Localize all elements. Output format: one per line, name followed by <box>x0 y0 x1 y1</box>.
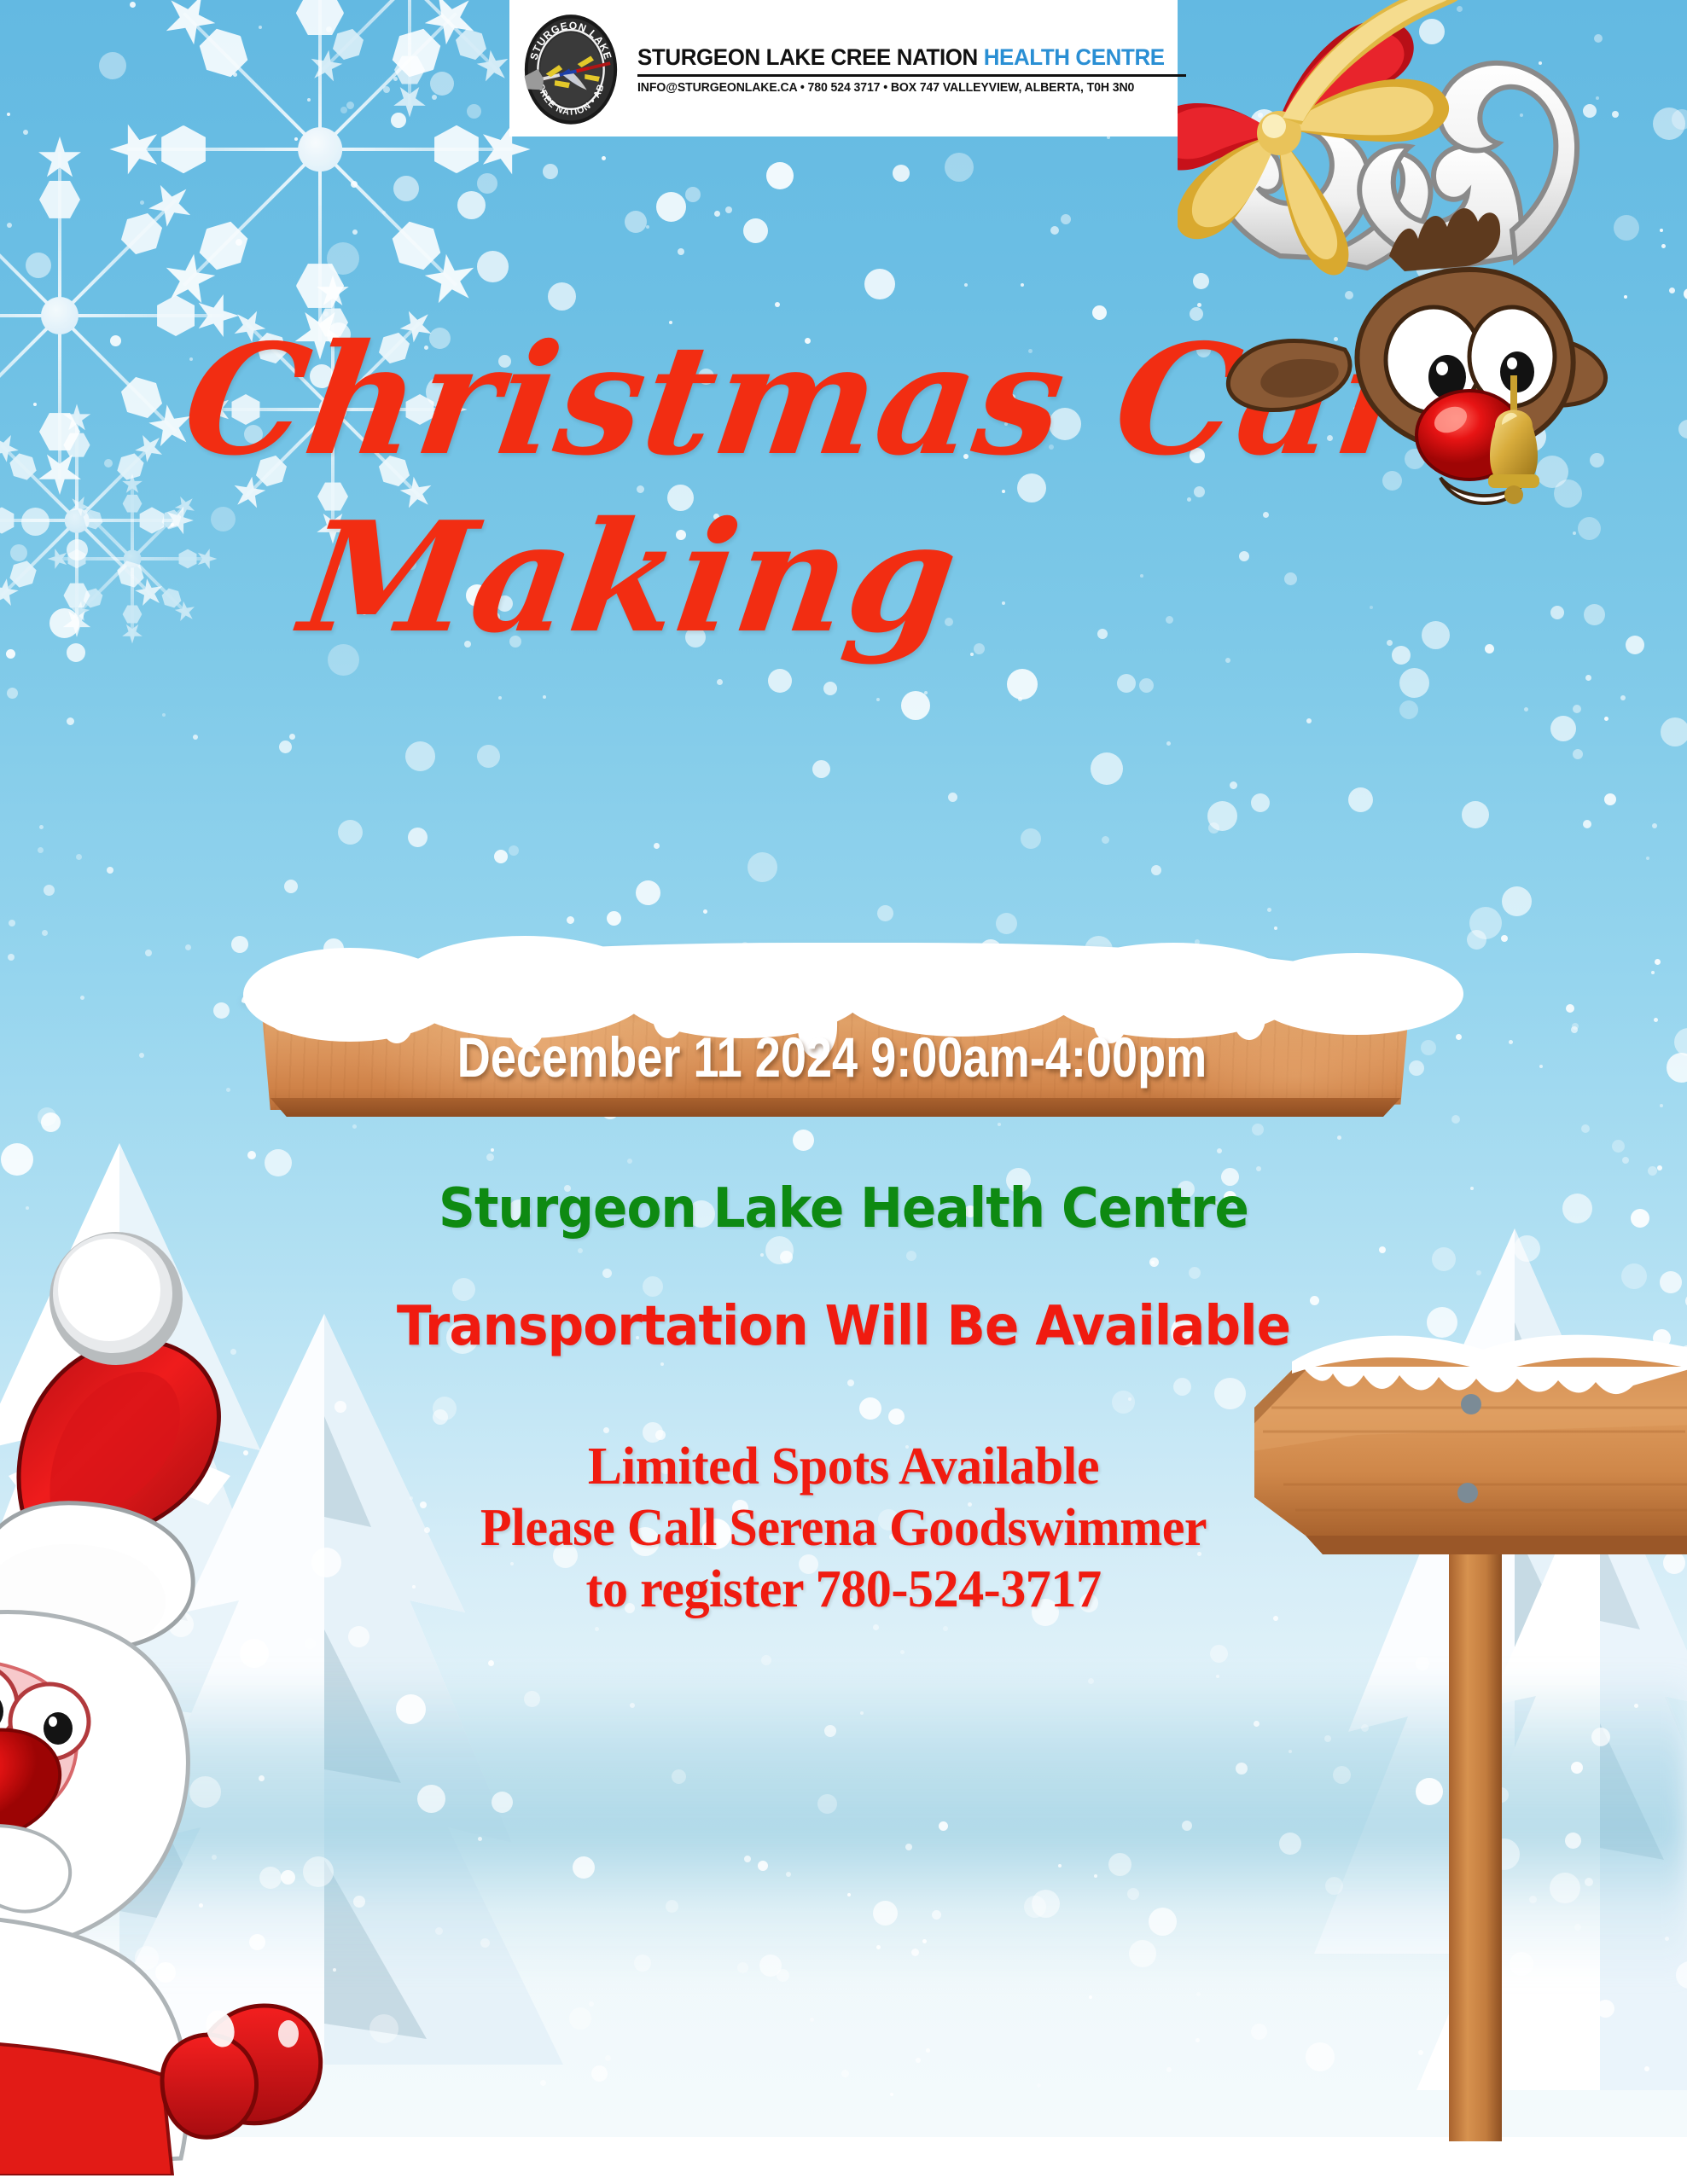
logo-wrap: STURGEON LAKE CREE NATION • AB <box>516 4 625 132</box>
icicle <box>883 999 905 1025</box>
sign-bottom-edge <box>252 1098 1412 1117</box>
poster-canvas: STURGEON LAKE CREE NATION • AB <box>0 0 1687 2184</box>
org-title: STURGEON LAKE CREE NATION HEALTH CENTRE <box>637 45 1165 69</box>
header-banner: STURGEON LAKE CREE NATION • AB <box>509 0 1178 136</box>
santa-graphic <box>0 1169 410 2175</box>
santa-illustration <box>0 1169 410 2175</box>
icicle <box>726 1001 745 1021</box>
header-text-block: STURGEON LAKE CREE NATION HEALTH CENTRE … <box>625 42 1186 95</box>
org-contact: INFO@STURGEONLAKE.CA • 780 524 3717 • BO… <box>637 81 1170 95</box>
snow-lump <box>1250 953 1463 1035</box>
event-date-time: December 11 2024 9:00am-4:00pm <box>356 1025 1307 1089</box>
icicle <box>583 999 607 1028</box>
icicle <box>1165 999 1185 1023</box>
header-divider <box>637 74 1186 77</box>
icicle <box>1306 999 1329 1026</box>
icicle <box>325 997 347 1023</box>
wooden-date-sign: December 11 2024 9:00am-4:00pm <box>252 943 1412 1122</box>
icicle <box>1020 997 1044 1028</box>
org-accent: HEALTH CENTRE <box>984 44 1165 70</box>
org-name: STURGEON LAKE CREE NATION <box>637 44 984 70</box>
icicle <box>269 996 298 1031</box>
reindeer-illustration <box>1178 0 1687 537</box>
sturgeon-lake-cree-nation-logo-icon: STURGEON LAKE CREE NATION • AB <box>521 9 620 127</box>
santa-hat-pompom <box>49 1232 183 1365</box>
icicle <box>446 999 467 1021</box>
icicle <box>1361 996 1390 1033</box>
reindeer-graphic <box>1178 0 1687 537</box>
santa-mitten <box>162 2006 321 2137</box>
